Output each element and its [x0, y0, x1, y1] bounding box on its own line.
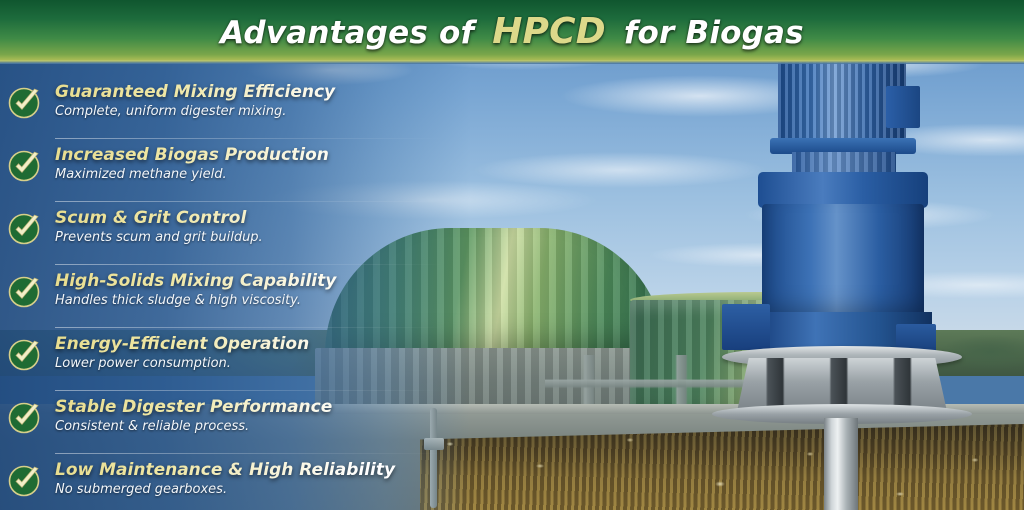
benefit-item: Scum & Grit Control Prevents scum and gr… [0, 206, 470, 269]
benefit-subtitle: Complete, uniform digester mixing. [55, 103, 470, 121]
gearbox-body [762, 204, 924, 322]
benefit-item: Increased Biogas Production Maximized me… [0, 143, 470, 206]
gearbox-collar [758, 172, 928, 208]
benefit-texts: Increased Biogas Production Maximized me… [55, 143, 470, 184]
benefit-heading: High-Solids Mixing Capability [55, 271, 470, 291]
benefit-texts: Stable Digester Performance Consistent &… [55, 395, 470, 436]
benefit-subtitle: No submerged gearboxes. [55, 481, 470, 499]
vertical-mixer-drive [700, 46, 1024, 510]
mixer-shaft [824, 418, 858, 510]
benefit-heading: Energy-Efficient Operation [55, 334, 470, 354]
biogas-advantages-banner: Advantages of HPCD for Biogas Guaranteed… [0, 0, 1024, 510]
page-title: Advantages of HPCD for Biogas [220, 11, 804, 52]
title-part-2: for Biogas [624, 15, 804, 51]
benefit-subtitle: Prevents scum and grit buildup. [55, 229, 470, 247]
benefit-subtitle: Maximized methane yield. [55, 166, 470, 184]
benefit-heading: Increased Biogas Production [55, 145, 470, 165]
check-circle-icon [8, 463, 42, 497]
item-divider [55, 201, 445, 202]
benefit-item: Energy-Efficient Operation Lower power c… [0, 332, 470, 395]
benefit-subtitle: Lower power consumption. [55, 355, 470, 373]
check-circle-icon [8, 274, 42, 308]
motor-terminal-box [886, 86, 920, 128]
item-divider [55, 390, 445, 391]
item-divider [55, 327, 445, 328]
benefit-heading: Low Maintenance & High Reliability [55, 460, 470, 480]
benefit-heading: Guaranteed Mixing Efficiency [55, 82, 470, 102]
title-part-1: Advantages of [220, 15, 474, 51]
check-circle-icon [8, 211, 42, 245]
item-divider [55, 138, 445, 139]
check-circle-icon [8, 148, 42, 182]
item-divider [55, 453, 445, 454]
benefit-item: High-Solids Mixing Capability Handles th… [0, 269, 470, 332]
benefit-heading: Stable Digester Performance [55, 397, 470, 417]
check-circle-icon [8, 85, 42, 119]
benefit-subtitle: Consistent & reliable process. [55, 418, 470, 436]
title-highlight-hpcd: HPCD [489, 11, 609, 52]
gearbox-side-housing [722, 304, 770, 350]
benefits-list: Guaranteed Mixing Efficiency Complete, u… [0, 62, 470, 510]
benefit-texts: High-Solids Mixing Capability Handles th… [55, 269, 470, 310]
benefit-item: Low Maintenance & High Reliability No su… [0, 458, 470, 510]
header-band: Advantages of HPCD for Biogas [0, 0, 1024, 62]
drive-neck [792, 152, 896, 174]
benefit-texts: Guaranteed Mixing Efficiency Complete, u… [55, 80, 470, 121]
benefit-item: Guaranteed Mixing Efficiency Complete, u… [0, 80, 470, 143]
benefit-subtitle: Handles thick sludge & high viscosity. [55, 292, 470, 310]
benefit-texts: Energy-Efficient Operation Lower power c… [55, 332, 470, 373]
benefit-texts: Low Maintenance & High Reliability No su… [55, 458, 470, 499]
item-divider [55, 264, 445, 265]
check-circle-icon [8, 337, 42, 371]
benefit-heading: Scum & Grit Control [55, 208, 470, 228]
benefit-texts: Scum & Grit Control Prevents scum and gr… [55, 206, 470, 247]
check-circle-icon [8, 400, 42, 434]
benefit-item: Stable Digester Performance Consistent &… [0, 395, 470, 458]
